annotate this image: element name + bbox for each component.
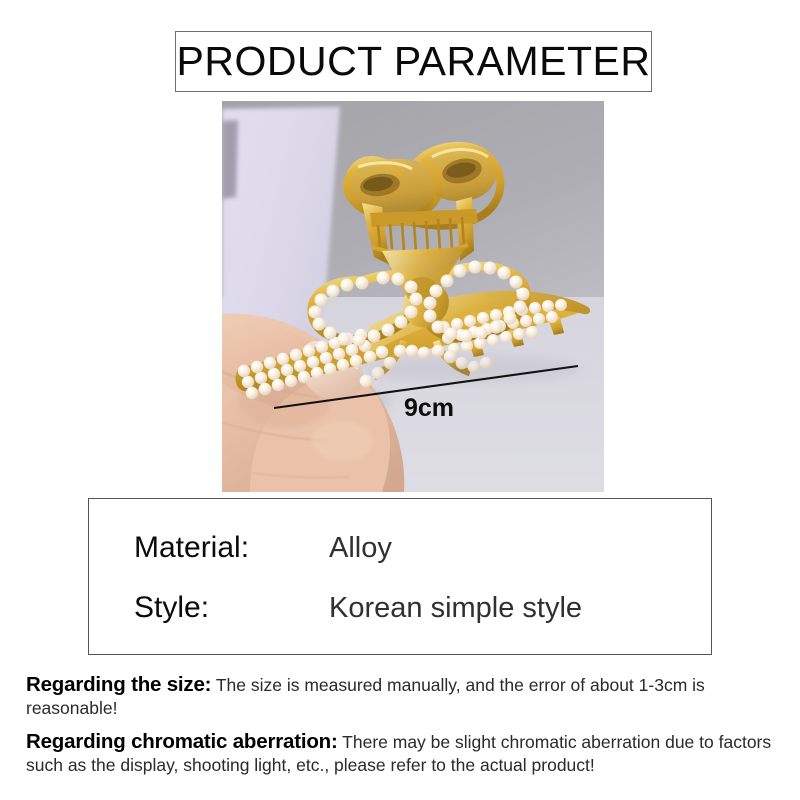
spec-row-style: Style: Korean simple style xyxy=(89,577,711,639)
footer-notes: Regarding the size: The size is measured… xyxy=(26,673,778,787)
product-photo: 9cm xyxy=(222,101,604,492)
product-parameter-title-box: PRODUCT PARAMETER xyxy=(175,31,652,92)
measurement-label: 9cm xyxy=(404,394,454,422)
note-chromatic-aberration: Regarding chromatic aberration: There ma… xyxy=(26,730,778,777)
note-size: Regarding the size: The size is measured… xyxy=(26,673,778,720)
note-size-lead: Regarding the size: xyxy=(26,673,211,696)
spec-row-material: Material: Alloy xyxy=(89,517,711,579)
spec-value-style: Korean simple style xyxy=(329,592,582,625)
note-chromatic-lead: Regarding chromatic aberration: xyxy=(26,730,338,753)
spec-value-material: Alloy xyxy=(329,532,392,565)
spec-table: Material: Alloy Style: Korean simple sty… xyxy=(88,498,712,655)
product-photo-illustration: 9cm xyxy=(222,101,604,492)
spec-label-style: Style: xyxy=(134,591,209,625)
spec-label-material: Material: xyxy=(134,531,249,565)
page-title: PRODUCT PARAMETER xyxy=(177,41,651,82)
